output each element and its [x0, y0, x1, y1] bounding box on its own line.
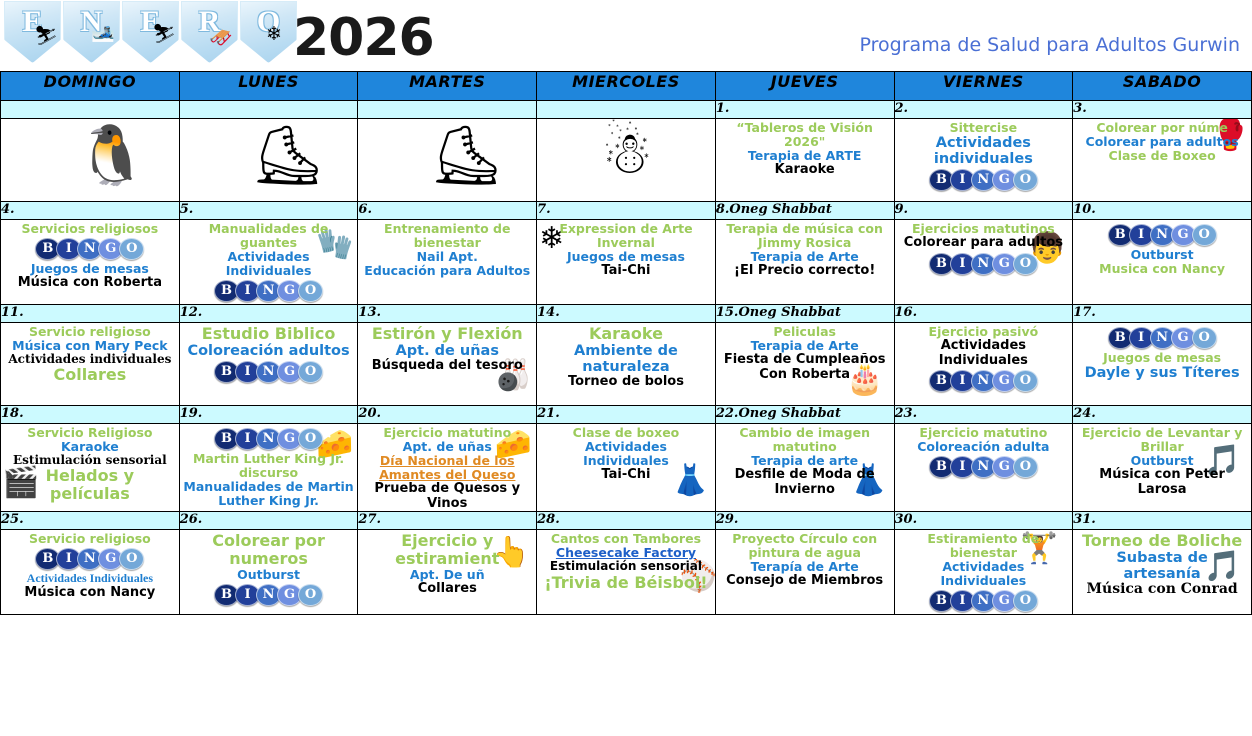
activity-line: Actividades Individuales: [898, 560, 1070, 588]
day-number-blank-0[interactable]: [1, 101, 180, 119]
activity-line: BINGO: [183, 359, 355, 385]
day-cell-20[interactable]: 🧀Ejercicio matutinoApt. de uñasDía Nacio…: [358, 424, 537, 512]
day-number-label: 24.: [1073, 406, 1096, 421]
day-cell-31[interactable]: 🎵Torneo de BolicheSubasta de artesaníaMú…: [1073, 530, 1252, 615]
boy-ice-skating-icon: ⛸: [429, 127, 503, 185]
activity-list: Cantos con TamboresCheesecake FactoryEst…: [537, 530, 715, 591]
day-cell-26[interactable]: Colorear por numerosOutburstBINGO: [179, 530, 358, 615]
day-number-label: 21.: [537, 406, 560, 421]
day-number-4[interactable]: 4.: [1, 202, 180, 220]
activity-list: Terapia de música con Jimmy RosicaTerapi…: [716, 220, 894, 279]
activity-line: Estirón y Flexión: [361, 325, 533, 343]
snowball-kid-icon: ❄: [266, 25, 282, 44]
activity-line: Juegos de mesas: [1076, 351, 1248, 365]
activity-line: Manualidades de Martin Luther King Jr.: [183, 480, 355, 508]
activity-line: Coloreación adulta: [898, 440, 1070, 454]
cheering-kid-icon: 🎿: [91, 23, 115, 42]
activity-line: Clase de Boxeo: [1076, 149, 1248, 163]
activity-line: Búsqueda del tesoro: [361, 359, 533, 374]
day-number-label: 5.: [180, 202, 194, 217]
day-cell-14[interactable]: KaraokeAmbiente de naturalezaTorneo de b…: [537, 323, 716, 406]
activity-list: Torneo de BolicheSubasta de artesaníaMús…: [1073, 530, 1251, 598]
day-cell-11[interactable]: Servicio religiosoMúsica con Mary PeckAc…: [1, 323, 180, 406]
month-banner: E⛷N🎿E⛷R🛷O❄: [4, 1, 297, 63]
day-number-label: 12.: [180, 305, 203, 320]
activity-line: Terapia de Arte: [719, 339, 891, 353]
activity-line: Proyecto Círculo con pintura de agua: [719, 532, 891, 560]
activity-list: Servicios religiososBINGOJuegos de mesas…: [1, 220, 179, 291]
banner-pennant-e-2: E⛷: [122, 1, 179, 63]
day-number-21[interactable]: 21.: [537, 406, 716, 424]
day-cell-25[interactable]: Servicio religiosoBINGOActividades Indiv…: [1, 530, 180, 615]
day-cell-28[interactable]: ⚾Cantos con TamboresCheesecake FactoryEs…: [537, 530, 716, 615]
day-number-label: 23.: [895, 406, 918, 421]
day-number-label: 13.: [358, 305, 381, 320]
day-number-22[interactable]: 22.Oneg Shabbat: [715, 406, 894, 424]
activity-line: Actividades individuales: [898, 135, 1070, 167]
day-number-15[interactable]: 15.Oneg Shabbat: [715, 305, 894, 323]
day-cell-19[interactable]: 🧀BINGOMartin Luther King Jr. discursoMan…: [179, 424, 358, 512]
activity-list: Clase de boxeoActividades IndividualesTa…: [537, 424, 715, 483]
skier-kid-icon: ⛷: [34, 27, 58, 46]
activity-list: [1, 119, 179, 121]
day-cell-30[interactable]: 🏋Estiramiento de bienestarActividades In…: [894, 530, 1073, 615]
activity-line: Expression de Arte Invernal: [540, 222, 712, 250]
activity-line: Outburst: [1076, 248, 1248, 262]
day-number-label: 17.: [1073, 305, 1096, 320]
activity-line: “Tableros de Visión 2026": [719, 121, 891, 149]
activity-line: BINGO: [183, 426, 355, 452]
day-number-2[interactable]: 2.: [894, 101, 1073, 119]
day-number-label: 1.: [716, 101, 730, 116]
weekday-header-sabado: SABADO: [1073, 72, 1252, 101]
day-number-16[interactable]: 16.: [894, 305, 1073, 323]
program-title: Programa de Salud para Adultos Gurwin: [860, 34, 1240, 56]
day-number-17[interactable]: 17.: [1073, 305, 1252, 323]
day-number-9[interactable]: 9.: [894, 202, 1073, 220]
activity-line: BINGO: [4, 236, 176, 262]
day-cell-22[interactable]: 👗Cambio de imagen matutinoTerapia de art…: [715, 424, 894, 512]
day-cell-blank-2[interactable]: ⛸: [358, 119, 537, 202]
activity-line: BINGO: [898, 167, 1070, 193]
activity-line: Collares: [4, 366, 176, 384]
activity-list: Entrenamiento de bienestarNail Apt.Educa…: [358, 220, 536, 278]
day-cell-21[interactable]: 👗Clase de boxeoActividades IndividualesT…: [537, 424, 716, 512]
activity-line: BINGO: [898, 368, 1070, 394]
activity-line: Música con Roberta: [4, 276, 176, 291]
day-number-10[interactable]: 10.: [1073, 202, 1252, 220]
day-cell-23[interactable]: Ejercicio matutinoColoreación adultaBING…: [894, 424, 1073, 512]
bingo-ball: O: [298, 280, 323, 302]
activity-line: Ejercicio de Levantar y Brillar: [1076, 426, 1248, 454]
bingo-ball: O: [119, 548, 144, 570]
activity-list: BINGOMartin Luther King Jr. discursoManu…: [180, 424, 358, 508]
activity-list: Servicio religiosoMúsica con Mary PeckAc…: [1, 323, 179, 384]
activity-line: Terapia de ARTE: [719, 149, 891, 163]
day-cell-6[interactable]: Entrenamiento de bienestarNail Apt.Educa…: [358, 220, 537, 305]
activity-list: Servicio ReligiosoKaraokeEstimulación se…: [1, 424, 179, 503]
day-number-blank-1[interactable]: [179, 101, 358, 119]
activity-line: Actividades Individuales: [898, 339, 1070, 368]
activity-line: Con Roberta: [719, 368, 891, 383]
activity-line: Música con Mary Peck: [4, 339, 176, 353]
activity-line: Karaoke: [4, 440, 176, 454]
day-number-1[interactable]: 1.: [715, 101, 894, 119]
day-cell-8[interactable]: Terapia de música con Jimmy RosicaTerapi…: [715, 220, 894, 305]
bingo-ball: O: [1013, 456, 1038, 478]
calendar-header: E⛷N🎿E⛷R🛷O❄ 2026 Programa de Salud para A…: [0, 0, 1252, 70]
activity-list: Ejercicio pasivóActividades Individuales…: [895, 323, 1073, 394]
activity-line: Actividades Individuales: [183, 250, 355, 278]
day-cell-5[interactable]: 🧤Manualidades de guantesActividades Indi…: [179, 220, 358, 305]
day-number-label: 9.: [895, 202, 909, 217]
day-number-18[interactable]: 18.: [1, 406, 180, 424]
calendar-page: E⛷N🎿E⛷R🛷O❄ 2026 Programa de Salud para A…: [0, 0, 1252, 736]
banner-pennant-n-1: N🎿: [63, 1, 120, 63]
activity-list: Ejercicio de Levantar y BrillarOutburstM…: [1073, 424, 1251, 497]
bingo-ball: O: [298, 584, 323, 606]
activity-line: ¡Trivia de Béisbol!: [540, 574, 712, 592]
day-number-label: 18.: [1, 406, 24, 421]
bingo-ball: O: [1192, 327, 1217, 349]
activity-line: Entrenamiento de bienestar: [361, 222, 533, 250]
jumping-kid-icon: ⛷: [152, 25, 176, 44]
day-number-label: 25.: [1, 512, 24, 527]
day-content-row: 🐧⛸⛸☃“Tableros de Visión 2026"Terapia de …: [1, 119, 1252, 202]
day-content-row: Servicio religiosoMúsica con Mary PeckAc…: [1, 323, 1252, 406]
activity-line: ¡El Precio correcto!: [719, 264, 891, 279]
activity-line: Martin Luther King Jr. discurso: [183, 452, 355, 480]
day-number-5[interactable]: 5.: [179, 202, 358, 220]
day-number-row: 4.5.6.7.8.Oneg Shabbat9.10.: [1, 202, 1252, 220]
weekday-header-lunes: LUNES: [179, 72, 358, 101]
activity-line: Cambio de imagen matutino: [719, 426, 891, 454]
day-number-7[interactable]: 7.: [537, 202, 716, 220]
day-number-19[interactable]: 19.: [179, 406, 358, 424]
day-special-title: Oneg Shabbat: [729, 202, 832, 217]
weekday-header-martes: MARTES: [358, 72, 537, 101]
activity-line: Juegos de mesas: [540, 250, 712, 264]
activity-line: Ejercicio y estiramient: [361, 532, 533, 568]
day-number-label: 20.: [358, 406, 381, 421]
day-special-title: Oneg Shabbat: [738, 406, 841, 421]
activity-line: Torneo de Boliche: [1076, 532, 1248, 550]
activity-list: Estudio BiblicoColoreación adultosBINGO: [180, 323, 358, 385]
weekday-header-row: DOMINGOLUNESMARTESMIERCOLESJUEVESVIERNES…: [1, 72, 1252, 101]
weekday-header-miercoles: MIERCOLES: [537, 72, 716, 101]
day-cell-4[interactable]: Servicios religiososBINGOJuegos de mesas…: [1, 220, 180, 305]
bingo-logo-icon: BINGO: [216, 584, 321, 606]
day-cell-3[interactable]: 🥊Colorear por númeColorear para adultosC…: [1073, 119, 1252, 202]
activity-line: Servicios religiosos: [4, 222, 176, 236]
activity-line: Musica con Nancy: [1076, 262, 1248, 276]
activity-list: SitterciseActividades individualesBINGO: [895, 119, 1073, 193]
illustration-layer: 🐧: [1, 119, 179, 201]
bingo-ball: O: [1013, 253, 1038, 275]
activity-list: Ejercicios matutinosColorear para adulto…: [895, 220, 1073, 277]
day-number-row: 18.19.20.21.22.Oneg Shabbat23.24.: [1, 406, 1252, 424]
activity-line: Cantos con Tambores: [540, 532, 712, 546]
day-cell-15[interactable]: 🎂PeliculasTerapia de ArteFiesta de Cumpl…: [715, 323, 894, 406]
bingo-ball: O: [1192, 224, 1217, 246]
activity-line: Terapia de música con Jimmy Rosica: [719, 222, 891, 250]
bingo-logo-icon: BINGO: [931, 370, 1036, 392]
day-cell-18[interactable]: 🎬Servicio ReligiosoKaraokeEstimulación s…: [1, 424, 180, 512]
day-special-title: Oneg Shabbat: [738, 305, 841, 320]
day-number-label: 30.: [895, 512, 918, 527]
activity-line: Música con Conrad: [1076, 582, 1248, 598]
banner-pennant-o-4: O❄: [240, 1, 297, 63]
day-number-6[interactable]: 6.: [358, 202, 537, 220]
day-cell-16[interactable]: Ejercicio pasivóActividades Individuales…: [894, 323, 1073, 406]
activity-list: Expression de Arte InvernalJuegos de mes…: [537, 220, 715, 279]
activity-list: Estiramiento de bienestarActividades Ind…: [895, 530, 1073, 614]
girl-ice-skating-icon: ⛸: [251, 127, 325, 185]
activity-line: Ambiente de naturaleza: [540, 343, 712, 375]
activity-list: Ejercicio matutinoApt. de uñasDía Nacion…: [358, 424, 536, 511]
day-number-label: 8.: [716, 202, 730, 217]
activity-line: Colorear para adultos: [898, 236, 1070, 251]
activity-list: Ejercicio matutinoColoreación adultaBING…: [895, 424, 1073, 480]
day-number-25[interactable]: 25.: [1, 512, 180, 530]
activity-line: Cheesecake Factory: [540, 546, 712, 560]
activity-line: BINGO: [4, 546, 176, 572]
activity-line: Terapía de Arte: [719, 560, 891, 574]
bingo-ball: O: [119, 238, 144, 260]
bingo-logo-icon: BINGO: [1110, 224, 1215, 246]
activity-line: Tai-Chi: [540, 264, 712, 279]
activity-line: Estimulación sensorial: [4, 454, 176, 467]
activity-line: Educación para Adultos: [361, 264, 533, 278]
activity-line: Outburst: [1076, 454, 1248, 468]
penguin-snow-icon: 🐧: [76, 127, 148, 185]
day-number-3[interactable]: 3.: [1073, 101, 1252, 119]
day-number-31[interactable]: 31.: [1073, 512, 1252, 530]
weekday-header-viernes: VIERNES: [894, 72, 1073, 101]
activity-line: Clase de boxeo: [540, 426, 712, 440]
sledding-kid-icon: 🛷: [209, 29, 233, 48]
activity-line: Estudio Biblico: [183, 325, 355, 343]
day-number-label: 27.: [358, 512, 381, 527]
day-number-8[interactable]: 8.Oneg Shabbat: [715, 202, 894, 220]
activity-line: BINGO: [898, 588, 1070, 614]
day-number-label: 7.: [537, 202, 551, 217]
day-number-label: 31.: [1073, 512, 1096, 527]
day-number-13[interactable]: 13.: [358, 305, 537, 323]
activity-list: [180, 119, 358, 121]
day-number-label: 14.: [537, 305, 560, 320]
activity-line: BINGO: [1076, 325, 1248, 351]
activity-line: Fiesta de Cumpleaños: [719, 353, 891, 368]
activity-line: Colorear por numeros: [183, 532, 355, 568]
activity-line: Peliculas: [719, 325, 891, 339]
day-number-11[interactable]: 11.: [1, 305, 180, 323]
day-number-label: 15.: [716, 305, 739, 320]
day-cell-blank-1[interactable]: ⛸: [179, 119, 358, 202]
day-cell-blank-3[interactable]: ☃: [537, 119, 716, 202]
snowman-penguin-icon: ☃: [601, 125, 653, 183]
illustration-layer: ☃: [537, 119, 715, 201]
day-number-label: 2.: [895, 101, 909, 116]
activity-list: [358, 119, 536, 121]
activity-line: Apt. de uñas: [361, 343, 533, 359]
activity-line: Ejercicio pasivó: [898, 325, 1070, 339]
day-number-12[interactable]: 12.: [179, 305, 358, 323]
day-cell-blank-0[interactable]: 🐧: [1, 119, 180, 202]
activity-line: Prueba de Quesos y Vinos: [361, 482, 533, 511]
day-cell-24[interactable]: 🎵Ejercicio de Levantar y BrillarOutburst…: [1073, 424, 1252, 512]
activity-list: Colorear por numerosOutburstBINGO: [180, 530, 358, 608]
day-number-label: 28.: [537, 512, 560, 527]
activity-list: Servicio religiosoBINGOActividades Indiv…: [1, 530, 179, 600]
activity-line: Karaoke: [540, 325, 712, 343]
activity-line: Manualidades de guantes: [183, 222, 355, 250]
bingo-logo-icon: BINGO: [216, 361, 321, 383]
day-cell-7[interactable]: ❄Expression de Arte InvernalJuegos de me…: [537, 220, 716, 305]
activity-line: Terapia de Arte: [719, 250, 891, 264]
bingo-logo-icon: BINGO: [216, 280, 321, 302]
activity-line: Colorear por núme: [1076, 121, 1248, 135]
activity-line: Outburst: [183, 568, 355, 582]
day-number-20[interactable]: 20.: [358, 406, 537, 424]
day-number-label: 11.: [1, 305, 24, 320]
activity-list: Ejercicio y estiramientApt. De uñCollare…: [358, 530, 536, 596]
activity-line: Servicio Religioso: [4, 426, 176, 440]
day-number-27[interactable]: 27.: [358, 512, 537, 530]
day-number-blank-2[interactable]: [358, 101, 537, 119]
day-number-26[interactable]: 26.: [179, 512, 358, 530]
day-number-label: 10.: [1073, 202, 1096, 217]
activity-line: BINGO: [898, 251, 1070, 277]
activity-list: KaraokeAmbiente de naturalezaTorneo de b…: [537, 323, 715, 390]
illustration-layer: ⛸: [358, 119, 536, 201]
activity-list: Cambio de imagen matutinoTerapia de arte…: [716, 424, 894, 497]
day-number-14[interactable]: 14.: [537, 305, 716, 323]
activity-line: Karaoke: [719, 163, 891, 178]
bingo-ball: O: [1013, 169, 1038, 191]
day-number-label: 26.: [180, 512, 203, 527]
activity-line: Torneo de bolos: [540, 375, 712, 390]
bingo-logo-icon: BINGO: [216, 428, 321, 450]
activity-list: BINGOOutburstMusica con Nancy: [1073, 220, 1251, 276]
day-number-label: 6.: [358, 202, 372, 217]
day-number-label: 29.: [716, 512, 739, 527]
day-number-label: 16.: [895, 305, 918, 320]
day-number-label: 3.: [1073, 101, 1087, 116]
activity-line: Estiramiento de bienestar: [898, 532, 1070, 560]
activity-line: Juegos de mesas: [4, 262, 176, 276]
activity-line: Desfile de Moda de Invierno: [719, 468, 891, 497]
activity-line: Nail Apt.: [361, 250, 533, 264]
activity-line: Actividades individuales: [4, 353, 176, 366]
day-content-row: Servicio religiosoBINGOActividades Indiv…: [1, 530, 1252, 615]
bingo-logo-icon: BINGO: [931, 169, 1036, 191]
day-content-row: 🎬Servicio ReligiosoKaraokeEstimulación s…: [1, 424, 1252, 512]
activity-line: Coloreación adultos: [183, 343, 355, 359]
day-number-label: 4.: [1, 202, 15, 217]
activity-list: BINGOJuegos de mesasDayle y sus Títeres: [1073, 323, 1251, 381]
activity-line: Collares: [361, 582, 533, 597]
illustration-layer: ⛸: [180, 119, 358, 201]
banner-pennant-e-0: E⛷: [4, 1, 61, 63]
activity-list: [537, 119, 715, 121]
bingo-ball: O: [298, 361, 323, 383]
day-number-23[interactable]: 23.: [894, 406, 1073, 424]
activity-line: BINGO: [898, 454, 1070, 480]
banner-pennant-r-3: R🛷: [181, 1, 238, 63]
activity-list: “Tableros de Visión 2026"Terapia de ARTE…: [716, 119, 894, 178]
bingo-ball: O: [298, 428, 323, 450]
day-number-28[interactable]: 28.: [537, 512, 716, 530]
day-number-30[interactable]: 30.: [894, 512, 1073, 530]
activity-list: Manualidades de guantesActividades Indiv…: [180, 220, 358, 304]
activity-line: Helados y películas: [4, 467, 176, 503]
activity-line: BINGO: [183, 582, 355, 608]
activity-list: Proyecto Círculo con pintura de aguaTera…: [716, 530, 894, 589]
bingo-logo-icon: BINGO: [1110, 327, 1215, 349]
activity-line: Servicio religioso: [4, 325, 176, 339]
day-number-row: 1.2.3.: [1, 101, 1252, 119]
day-number-label: 19.: [180, 406, 203, 421]
bingo-ball: O: [1013, 590, 1038, 612]
activity-line: BINGO: [183, 278, 355, 304]
activity-line: Música con Peter Larosa: [1076, 468, 1248, 497]
activity-list: Colorear por númeColorear para adultosCl…: [1073, 119, 1251, 163]
activity-line: Ejercicios matutinos: [898, 222, 1070, 236]
activity-line: Actividades Individuales: [540, 440, 712, 468]
year-label: 2026: [293, 8, 434, 68]
day-cell-10[interactable]: BINGOOutburstMusica con Nancy: [1073, 220, 1252, 305]
activity-line: Sittercise: [898, 121, 1070, 135]
activity-list: Estirón y FlexiónApt. de uñasBúsqueda de…: [358, 323, 536, 374]
day-cell-9[interactable]: 👦Ejercicios matutinosColorear para adult…: [894, 220, 1073, 305]
bingo-ball: O: [1013, 370, 1038, 392]
activity-line: Subasta de artesanía: [1076, 550, 1248, 582]
day-cell-17[interactable]: BINGOJuegos de mesasDayle y sus Títeres: [1073, 323, 1252, 406]
activity-line: Ejercicio matutino: [898, 426, 1070, 440]
activity-line: BINGO: [1076, 222, 1248, 248]
activity-line: Servicio religioso: [4, 532, 176, 546]
day-cell-29[interactable]: Proyecto Círculo con pintura de aguaTera…: [715, 530, 894, 615]
activity-line: Apt. de uñas: [361, 440, 533, 454]
day-number-24[interactable]: 24.: [1073, 406, 1252, 424]
day-cell-27[interactable]: 👆Ejercicio y estiramientApt. De uñCollar…: [358, 530, 537, 615]
day-cell-2[interactable]: SitterciseActividades individualesBINGO: [894, 119, 1073, 202]
bingo-logo-icon: BINGO: [931, 456, 1036, 478]
day-cell-1[interactable]: “Tableros de Visión 2026"Terapia de ARTE…: [715, 119, 894, 202]
bingo-logo-icon: BINGO: [931, 590, 1036, 612]
calendar-grid: DOMINGOLUNESMARTESMIERCOLESJUEVESVIERNES…: [0, 71, 1252, 615]
day-number-row: 11.12.13.14.15.Oneg Shabbat16.17.: [1, 305, 1252, 323]
activity-line: Terapia de arte: [719, 454, 891, 468]
day-number-29[interactable]: 29.: [715, 512, 894, 530]
day-cell-12[interactable]: Estudio BiblicoColoreación adultosBINGO: [179, 323, 358, 406]
activity-line: Consejo de Miembros: [719, 574, 891, 589]
bingo-logo-icon: BINGO: [37, 238, 142, 260]
activity-line: Estimulación sensorial: [540, 560, 712, 573]
day-number-label: 22.: [716, 406, 739, 421]
activity-line: Tai-Chi: [540, 468, 712, 483]
activity-line: Día Nacional de los Amantes del Queso: [361, 454, 533, 482]
activity-line: Dayle y sus Títeres: [1076, 365, 1248, 381]
activity-line: Actividades Individuales: [4, 572, 176, 585]
day-content-row: Servicios religiososBINGOJuegos de mesas…: [1, 220, 1252, 305]
day-cell-13[interactable]: 🎳Estirón y FlexiónApt. de uñasBúsqueda d…: [358, 323, 537, 406]
activity-line: Música con Nancy: [4, 586, 176, 601]
weekday-header-domingo: DOMINGO: [1, 72, 180, 101]
activity-line: Colorear para adultos: [1076, 135, 1248, 149]
day-number-blank-3[interactable]: [537, 101, 716, 119]
